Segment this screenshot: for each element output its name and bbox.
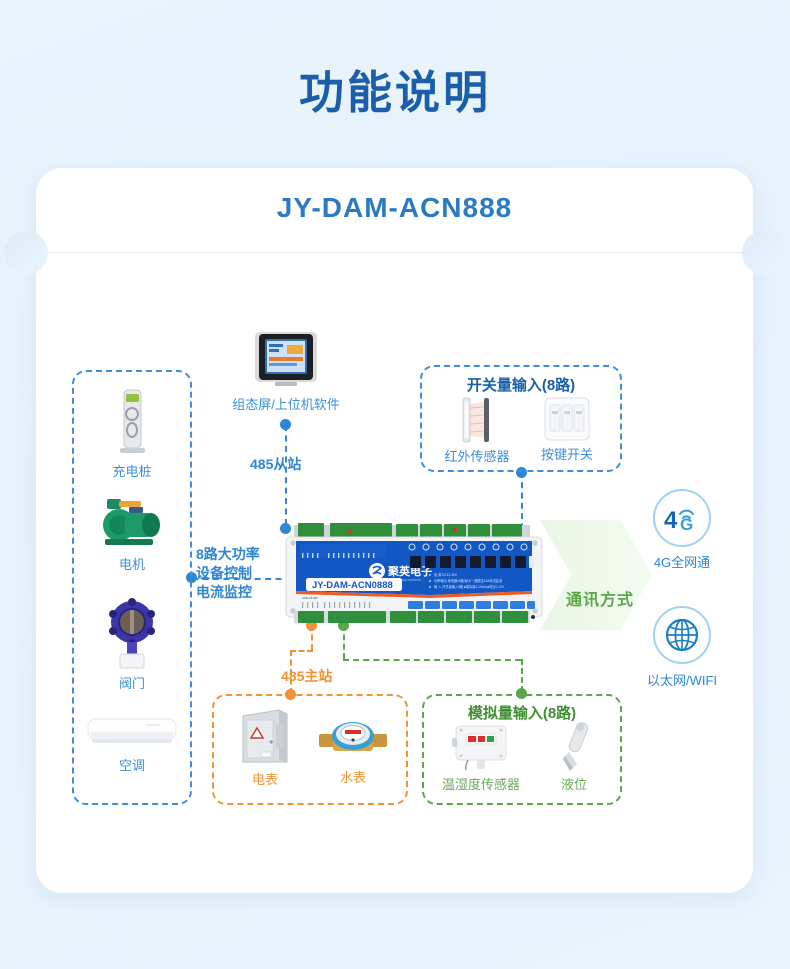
meter-item-electric: 电表 [224,706,306,788]
load-item-label: 空调 [72,755,192,774]
load-item-motor: 电机 [72,495,192,573]
hmi-panel-icon [222,330,350,390]
liquid-level-probe-icon [536,718,612,772]
card-notch-right [742,231,764,275]
load-item-label: 电机 [72,554,192,573]
communication-heading: 通讯方式 [566,586,634,610]
svg-text:JY-DAM-ACN0888: JY-DAM-ACN0888 [312,580,393,591]
charging-pile-icon [72,388,192,458]
digital-input-item-infrared: 红外传感器 [432,396,522,465]
electric-meter-cabinet-icon [224,706,306,766]
model-title: JY-DAM-ACN888 [36,192,753,224]
analog-input-item-liquid-level: 液位 [536,718,612,793]
connector-meters-horizontal-jog [290,650,313,652]
page-title: 功能说明 [0,56,790,121]
label-rs485-slave: 485从站 [250,454,301,474]
globe-network-icon [653,606,711,664]
label-power-control-line3: 电流监控 [196,583,260,602]
label-rs485-master: 485主站 [281,666,332,686]
load-item-air-conditioner: 空调 [72,715,192,774]
label-power-control-line1: 8路大功率 [196,545,260,564]
svg-text:输 入 开关量输入8路 ■模拟量4-20mA ■电压0-: 输 入 开关量输入8路 ■模拟量4-20mA ■电压0-10V [434,584,505,589]
digital-input-item-switch: 按键开关 [524,396,610,463]
water-meter-icon [312,716,394,764]
svg-text:电 源 DC12-30V: 电 源 DC12-30V [434,572,458,577]
communication-option-label: 4G全网通 [617,552,747,571]
water-pump-motor-icon [72,495,192,551]
connector-hmi-vertical [285,425,287,525]
label-power-control: 8路大功率 设备控制 电流监控 [196,545,260,602]
infrared-sensor-icon [432,396,522,444]
label-power-control-line2: 设备控制 [196,564,260,583]
load-item-charging-pile: 充电桩 [72,388,192,480]
svg-text:功率输出 继电器x8路/最大一路额定10A电流监测: 功率输出 继电器x8路/最大一路额定10A电流监测 [434,578,502,583]
hmi-item: 组态屏/上位机软件 [222,330,350,413]
connector-dot-hmi [280,419,291,430]
meter-item-label: 电表 [224,769,306,788]
svg-text:G: G [680,515,693,534]
card-divider [36,252,753,253]
analog-input-item-label: 液位 [536,774,612,793]
4g-signal-icon: 4 G [653,489,711,547]
digital-input-title: 开关量输入(8路) [420,374,622,395]
meter-item-label: 水表 [312,767,394,786]
analog-input-item-temp-humidity: 温湿度传感器 [430,724,532,793]
connector-ai-horizontal [343,659,521,661]
digital-input-item-label: 红外传感器 [432,446,522,465]
analog-input-item-label: 温湿度传感器 [430,774,532,793]
svg-text:GND A B 485: GND A B 485 [302,596,318,600]
load-item-valve: 阀门 [72,598,192,692]
card-notch-left [26,231,48,275]
air-conditioner-icon [72,715,192,749]
communication-option-label: 以太网/WIFI [617,670,747,689]
controller-device: 聚英电子 JUYING ELECTRONICS JY-DAM-ACN0888 [280,523,548,627]
svg-text:4: 4 [664,507,678,534]
wall-switch-icon [524,396,610,442]
load-item-label: 阀门 [72,673,192,692]
hmi-label: 组态屏/上位机软件 [222,394,350,413]
temp-humidity-sensor-icon [430,724,532,772]
load-item-label: 充电桩 [72,461,192,480]
meter-item-water: 水表 [312,716,394,786]
digital-input-item-label: 按键开关 [524,444,610,463]
butterfly-valve-icon [72,598,192,670]
